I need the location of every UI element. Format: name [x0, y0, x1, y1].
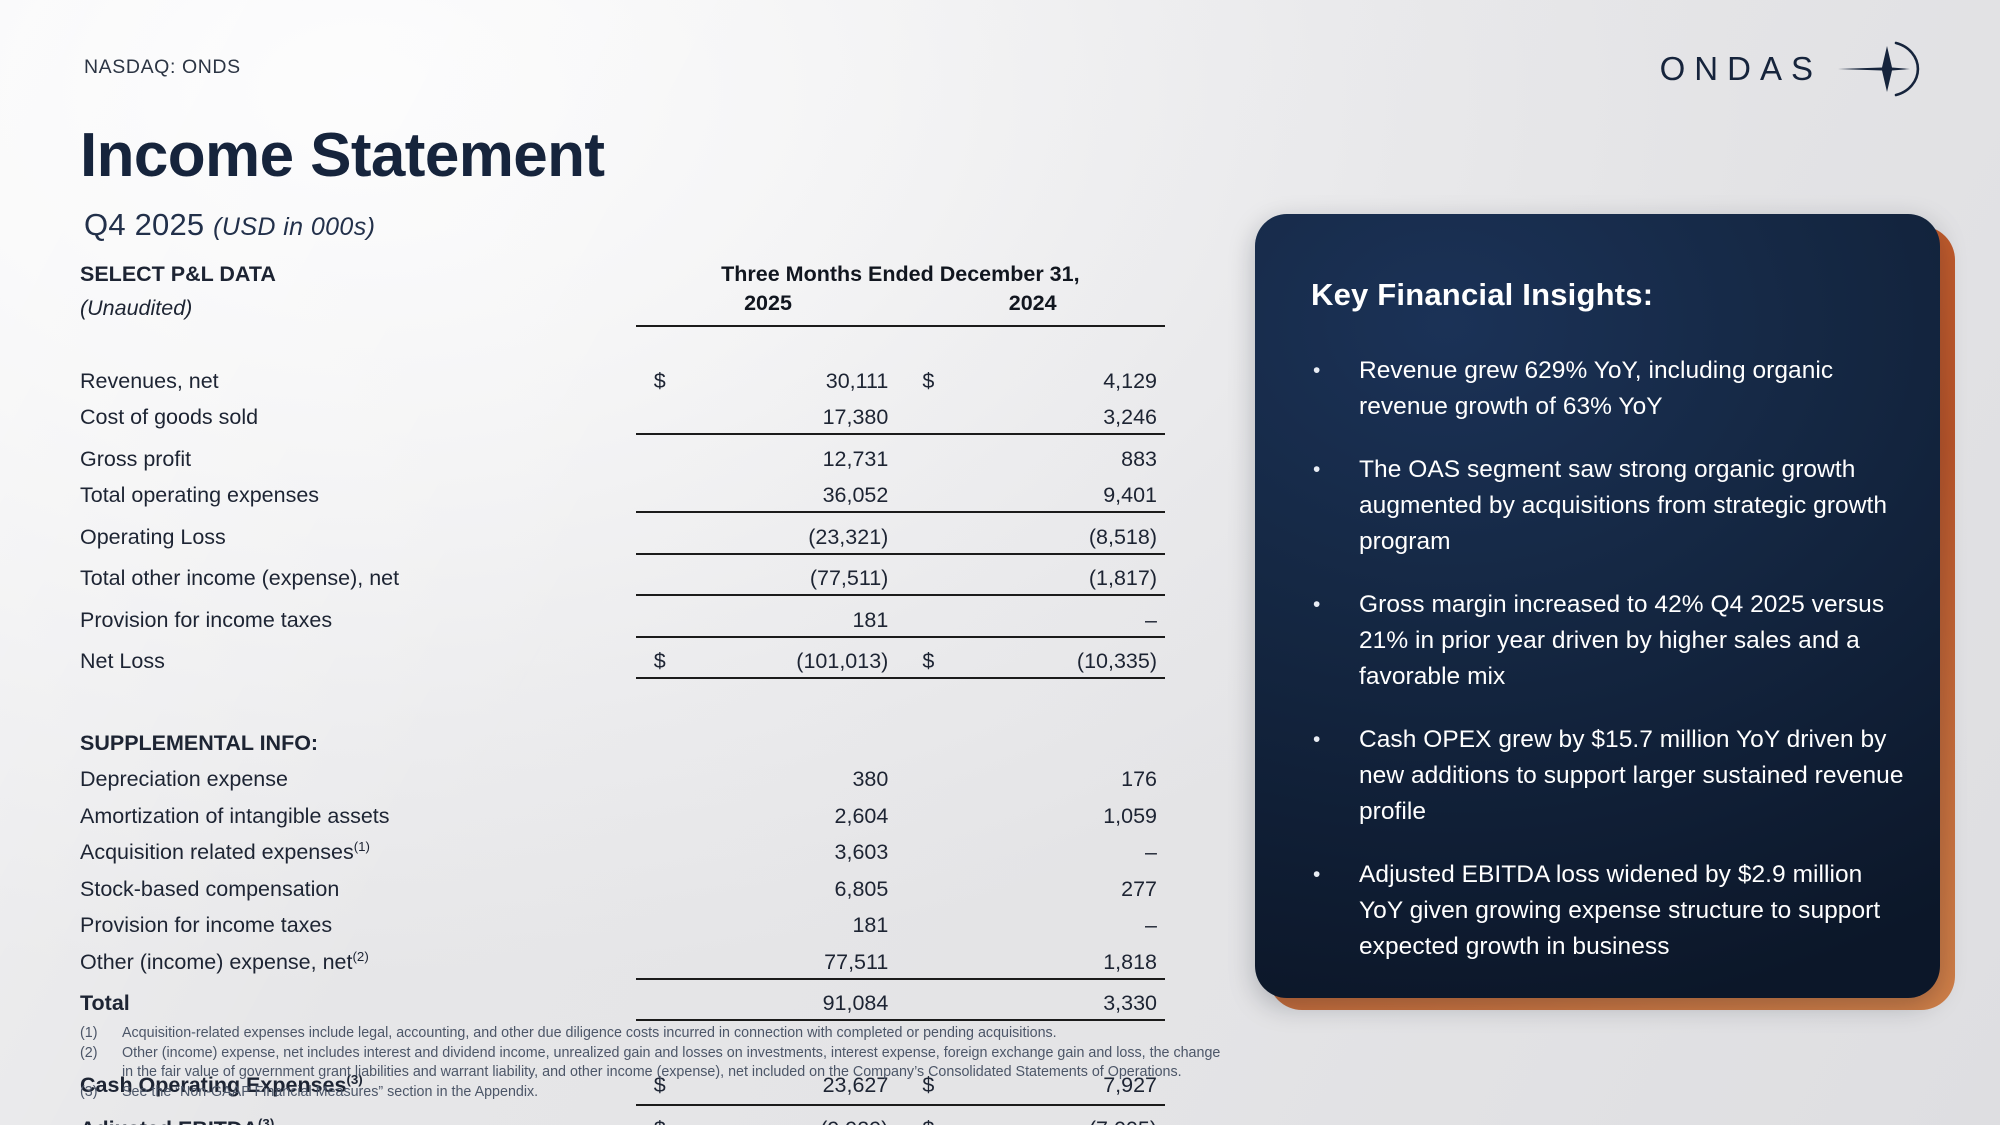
table-row: Revenues, net$30,111$4,129 [80, 357, 1165, 394]
table-row: Operating Loss(23,321)(8,518) [80, 512, 1165, 550]
currency-symbol-2025 [636, 394, 684, 431]
value-2025: 2,604 [683, 792, 900, 829]
row-label: Total [80, 979, 636, 1017]
bullet-marker-icon: • [1311, 452, 1359, 560]
value-2025: 17,380 [683, 394, 900, 431]
footnote-text: Other (income) expense, net includes int… [122, 1044, 1480, 1064]
value-2025: 36,052 [683, 472, 900, 509]
value-2024: 1,818 [948, 938, 1165, 975]
value-2025: (9,929) [683, 1105, 900, 1125]
table-section-header: SELECT P&L DATAThree Months Ended Decemb… [80, 262, 1165, 291]
value-2024: (7,005) [948, 1105, 1165, 1125]
footnotes: (1)Acquisition-related expenses include … [80, 1024, 1480, 1102]
row-label: Provision for income taxes [80, 902, 636, 939]
value-2024: – [948, 902, 1165, 939]
row-label: Provision for income taxes [80, 595, 636, 633]
currency-symbol-2025 [636, 472, 684, 509]
table-row: Net Loss$(101,013)$(10,335) [80, 637, 1165, 675]
value-2025: 181 [683, 595, 900, 633]
footnote-text: See the “Non-GAAP Financial Measures” se… [122, 1083, 1480, 1103]
table-row: Gross profit12,731883 [80, 434, 1165, 472]
table-total-row: Total91,0843,330 [80, 979, 1165, 1017]
insight-text: Cash OPEX grew by $15.7 million YoY driv… [1359, 722, 1909, 830]
value-2024: 1,059 [948, 792, 1165, 829]
value-2024: (8,518) [948, 512, 1165, 550]
currency-symbol-2024: $ [900, 357, 948, 394]
value-2024: (1,817) [948, 554, 1165, 592]
value-2025: (101,013) [683, 637, 900, 675]
insight-bullet: •Net loss for Q4 2025 includes a $82.2 m… [1311, 992, 1909, 998]
value-2024: 3,330 [948, 979, 1165, 1017]
currency-symbol-2025 [636, 829, 684, 866]
value-2024: 883 [948, 434, 1165, 472]
spacer [80, 678, 1165, 719]
currency-symbol-2025: $ [636, 357, 684, 394]
row-label: Other (income) expense, net(2) [80, 938, 636, 975]
insight-bullet: •Cash OPEX grew by $15.7 million YoY dri… [1311, 722, 1909, 830]
table-row: Adjusted EBITDA(3)$(9,929)$(7,005) [80, 1105, 1165, 1125]
ondas-logo: ONDAS [1660, 40, 1922, 98]
star-arc-icon [1836, 40, 1922, 98]
value-2025: (23,321) [683, 512, 900, 550]
ticker-label: NASDAQ: ONDS [84, 56, 241, 79]
currency-symbol-2025 [636, 792, 684, 829]
currency-symbol-2025 [636, 595, 684, 633]
currency-symbol-2024 [900, 979, 948, 1017]
currency-symbol-2024 [900, 902, 948, 939]
table-row: Acquisition related expenses(1)3,603– [80, 829, 1165, 866]
row-label: Revenues, net [80, 357, 636, 394]
panel-title: Key Financial Insights: [1311, 277, 1653, 313]
value-2024: – [948, 829, 1165, 866]
footnote-text-continued: in the fair value of government grant li… [80, 1063, 1480, 1083]
bullet-marker-icon: • [1311, 992, 1359, 998]
table-row: Other (income) expense, net(2)77,5111,81… [80, 938, 1165, 975]
value-2025: 91,084 [683, 979, 900, 1017]
table-row: Amortization of intangible assets2,6041,… [80, 792, 1165, 829]
logo-wordmark: ONDAS [1660, 50, 1822, 88]
row-label: Amortization of intangible assets [80, 792, 636, 829]
currency-symbol-2024 [900, 434, 948, 472]
currency-symbol-2024: $ [900, 637, 948, 675]
income-statement-table: SELECT P&L DATAThree Months Ended Decemb… [80, 262, 1165, 1125]
key-financial-insights-panel: Key Financial Insights: •Revenue grew 62… [1255, 214, 1940, 998]
currency-symbol-2025 [636, 756, 684, 793]
insight-text: Net loss for Q4 2025 includes a $82.2 mi… [1359, 992, 1909, 998]
footnote-item: (1)Acquisition-related expenses include … [80, 1024, 1480, 1044]
table-year-header: (Unaudited)20252024 [80, 291, 1165, 321]
value-2025: 181 [683, 902, 900, 939]
insight-text: Gross margin increased to 42% Q4 2025 ve… [1359, 587, 1909, 695]
bullet-marker-icon: • [1311, 857, 1359, 965]
currency-symbol-2025 [636, 512, 684, 550]
insight-bullet-list: •Revenue grew 629% YoY, including organi… [1311, 353, 1909, 998]
value-2025: (77,511) [683, 554, 900, 592]
currency-symbol-2025 [636, 434, 684, 472]
value-2024: 277 [948, 865, 1165, 902]
table-row: Stock-based compensation6,805277 [80, 865, 1165, 902]
value-2024: 4,129 [948, 357, 1165, 394]
spacer [80, 326, 1165, 357]
row-label: Total operating expenses [80, 472, 636, 509]
supplemental-header-row: SUPPLEMENTAL INFO: [80, 719, 1165, 756]
value-2025: 12,731 [683, 434, 900, 472]
footnote-number: (2) [80, 1044, 122, 1064]
value-2024: 9,401 [948, 472, 1165, 509]
unaudited-note: (Unaudited) [80, 291, 636, 321]
subtitle-units: (USD in 000s) [213, 213, 375, 241]
currency-symbol-2024 [900, 756, 948, 793]
currency-symbol-2024: $ [900, 1105, 948, 1125]
currency-symbol-2024 [900, 829, 948, 866]
table-row: Total other income (expense), net(77,511… [80, 554, 1165, 592]
bullet-marker-icon: • [1311, 722, 1359, 830]
insight-bullet: •Adjusted EBITDA loss widened by $2.9 mi… [1311, 857, 1909, 965]
insight-text: Adjusted EBITDA loss widened by $2.9 mil… [1359, 857, 1909, 965]
currency-symbol-2024 [900, 512, 948, 550]
value-2025: 380 [683, 756, 900, 793]
row-label: Depreciation expense [80, 756, 636, 793]
currency-symbol-2024 [900, 792, 948, 829]
footnote-number: (3) [80, 1083, 122, 1103]
page-title: Income Statement [80, 120, 604, 191]
table-row: Provision for income taxes181– [80, 595, 1165, 633]
currency-symbol-2024 [900, 938, 948, 975]
row-label: Cost of goods sold [80, 394, 636, 431]
insight-bullet: •Revenue grew 629% YoY, including organi… [1311, 353, 1909, 425]
currency-symbol-2025 [636, 902, 684, 939]
year-header-2025: 2025 [636, 291, 901, 321]
footnote-number: (1) [80, 1024, 122, 1044]
value-2025: 6,805 [683, 865, 900, 902]
value-2024: – [948, 595, 1165, 633]
row-label: Total other income (expense), net [80, 554, 636, 592]
insight-bullet: •Gross margin increased to 42% Q4 2025 v… [1311, 587, 1909, 695]
table-row: Provision for income taxes181– [80, 902, 1165, 939]
value-2025: 3,603 [683, 829, 900, 866]
currency-symbol-2024 [900, 394, 948, 431]
currency-symbol-2025 [636, 865, 684, 902]
footnote-item: (3)See the “Non-GAAP Financial Measures”… [80, 1083, 1480, 1103]
row-label: Operating Loss [80, 512, 636, 550]
row-label: Adjusted EBITDA(3) [80, 1105, 636, 1125]
insight-bullet: •The OAS segment saw strong organic grow… [1311, 452, 1909, 560]
table-row: Total operating expenses36,0529,401 [80, 472, 1165, 509]
currency-symbol-2025: $ [636, 637, 684, 675]
value-2025: 30,111 [683, 357, 900, 394]
table-row: Cost of goods sold17,3803,246 [80, 394, 1165, 431]
row-label: Acquisition related expenses(1) [80, 829, 636, 866]
value-2025: 77,511 [683, 938, 900, 975]
currency-symbol-2024 [900, 865, 948, 902]
slide: NASDAQ: ONDS ONDAS Income Statement Q4 2… [0, 0, 2000, 1125]
select-pl-data-label: SELECT P&L DATA [80, 262, 636, 291]
row-label: Gross profit [80, 434, 636, 472]
row-label: Net Loss [80, 637, 636, 675]
footnote-item: (2)Other (income) expense, net includes … [80, 1044, 1480, 1083]
footnote-text: Acquisition-related expenses include leg… [122, 1024, 1480, 1044]
value-2024: 3,246 [948, 394, 1165, 431]
row-label: Stock-based compensation [80, 865, 636, 902]
supplemental-info-label: SUPPLEMENTAL INFO: [80, 719, 636, 756]
currency-symbol-2024 [900, 554, 948, 592]
bullet-marker-icon: • [1311, 353, 1359, 425]
page-subtitle: Q4 2025 (USD in 000s) [84, 207, 375, 243]
currency-symbol-2024 [900, 595, 948, 633]
subtitle-main: Q4 2025 [84, 207, 204, 242]
year-header-2024: 2024 [900, 291, 1165, 321]
value-2024: 176 [948, 756, 1165, 793]
table-row: Depreciation expense380176 [80, 756, 1165, 793]
currency-symbol-2025: $ [636, 1105, 684, 1125]
value-2024: (10,335) [948, 637, 1165, 675]
currency-symbol-2025 [636, 938, 684, 975]
currency-symbol-2024 [900, 472, 948, 509]
bullet-marker-icon: • [1311, 587, 1359, 695]
currency-symbol-2025 [636, 979, 684, 1017]
column-group-header: Three Months Ended December 31, [636, 262, 1165, 291]
insight-text: The OAS segment saw strong organic growt… [1359, 452, 1909, 560]
insight-text: Revenue grew 629% YoY, including organic… [1359, 353, 1909, 425]
currency-symbol-2025 [636, 554, 684, 592]
